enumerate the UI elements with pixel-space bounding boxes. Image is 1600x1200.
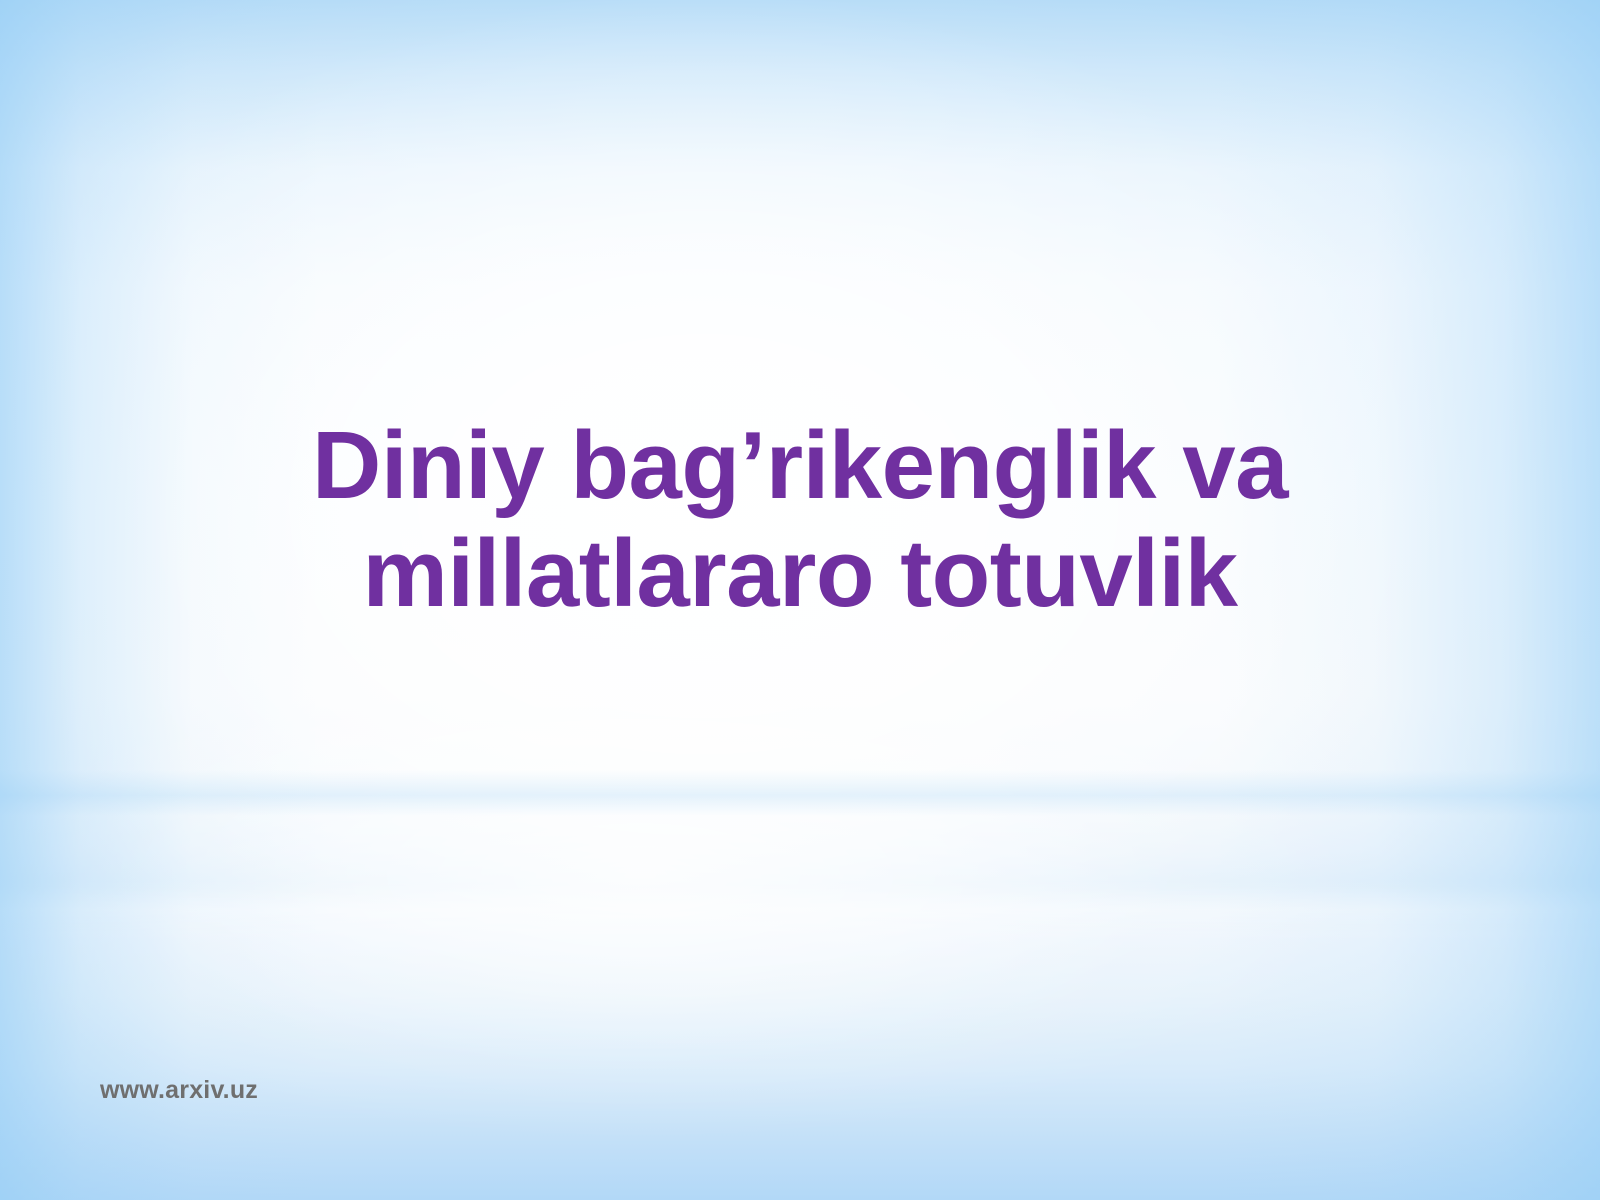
- background-band-upper: [0, 770, 1600, 816]
- footer-watermark: www.arxiv.uz: [100, 1076, 258, 1105]
- slide-title-line-2: millatlararo totuvlik: [140, 520, 1460, 628]
- slide-title-line-1: Diniy bag’rikenglik va: [140, 412, 1460, 520]
- background-band-lower: [0, 880, 1600, 940]
- presentation-slide: Diniy bag’rikenglik va millatlararo totu…: [0, 0, 1600, 1200]
- slide-title: Diniy bag’rikenglik va millatlararo totu…: [140, 412, 1460, 627]
